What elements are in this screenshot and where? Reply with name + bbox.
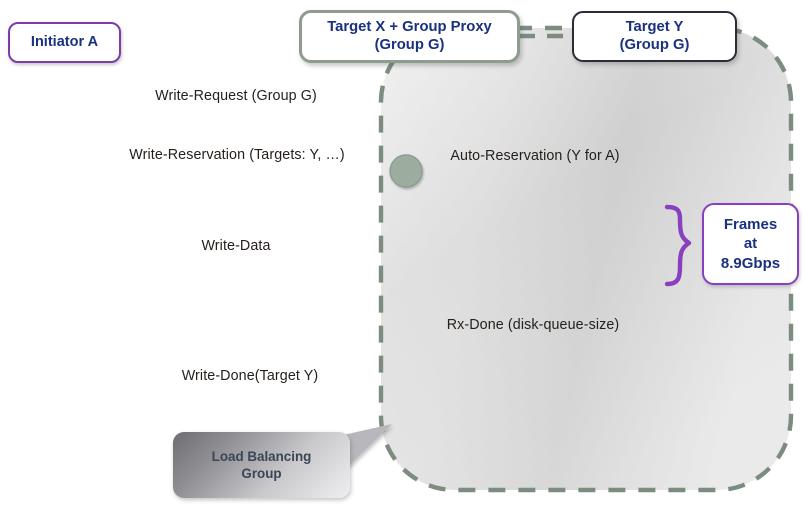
- message-label-write-reservation: Write-Reservation (Targets: Y, …): [129, 147, 344, 163]
- load-balancing-group-callout[interactable]: Load Balancing Group: [173, 432, 350, 498]
- proxy-node-marker: [390, 155, 422, 187]
- frames-rate-callout[interactable]: Frames at 8.9Gbps: [702, 203, 799, 285]
- load-balancing-callout-line1: Load Balancing: [212, 448, 312, 465]
- frames-callout-line1: Frames: [724, 215, 777, 234]
- message-label-write-data: Write-Data: [201, 238, 270, 254]
- participant-box-target-y[interactable]: Target Y (Group G): [572, 11, 737, 62]
- load-balancing-callout-line2: Group: [241, 465, 281, 482]
- participant-label-initiator-a: Initiator A: [31, 34, 98, 51]
- participant-label-target-y-line1: Target Y: [620, 19, 690, 36]
- participant-box-initiator-a[interactable]: Initiator A: [8, 22, 121, 63]
- participant-label-target-x-line1: Target X + Group Proxy: [327, 19, 492, 36]
- sequence-diagram-canvas: Initiator A Target X + Group Proxy (Grou…: [0, 0, 809, 506]
- participant-label-target-y-line2: (Group G): [620, 37, 690, 54]
- frames-callout-line3: 8.9Gbps: [721, 254, 780, 273]
- participant-box-target-x[interactable]: Target X + Group Proxy (Group G): [299, 10, 520, 63]
- participant-label-target-x-line2: (Group G): [327, 37, 492, 54]
- message-label-rx-done: Rx-Done (disk-queue-size): [447, 317, 620, 333]
- message-label-write-request: Write-Request (Group G): [155, 88, 317, 104]
- diagram-shapes-layer: [0, 0, 809, 506]
- message-label-write-done: Write-Done(Target Y): [182, 368, 319, 384]
- message-label-auto-reservation: Auto-Reservation (Y for A): [450, 148, 619, 164]
- frames-callout-line2: at: [744, 234, 757, 253]
